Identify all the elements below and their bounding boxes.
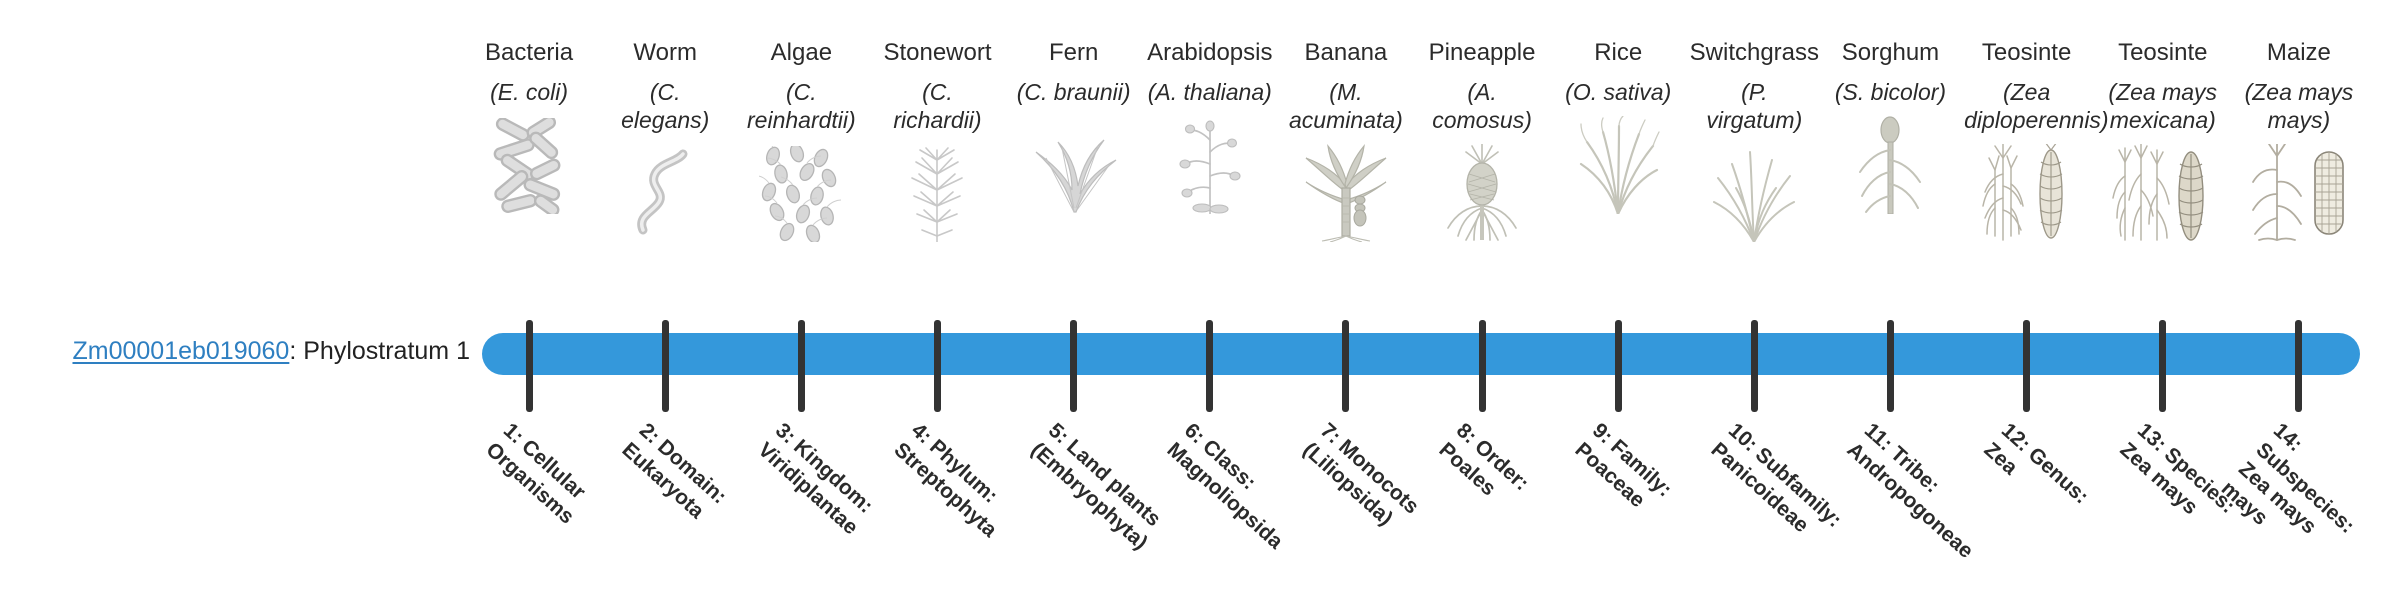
species-column-teosinte-mexicana: Teosinte (Zea mays mexicana) [2095, 38, 2231, 308]
species-scientific-name: (Zea diploperennis) [1964, 78, 2089, 134]
rank-cell: 8: Order: Poales [1414, 414, 1550, 580]
species-scientific-name: (M. acuminata) [1283, 78, 1408, 134]
bacteria-illustration-icon [490, 114, 568, 214]
species-column-arabidopsis: Arabidopsis (A. thaliana) [1142, 38, 1278, 308]
rank-cell: 10: Subfamily: Panicoideae [1686, 414, 1822, 580]
species-column-banana: Banana (M. acuminata) [1278, 38, 1414, 308]
species-common-name: Switchgrass [1690, 38, 1819, 68]
species-common-name: Algae [771, 38, 832, 68]
rank-cell: 7: Monocots (Liliopsida) [1278, 414, 1414, 580]
maize-illustration-icon [2247, 142, 2351, 242]
rank-cell: 14: Subspecies: Zea mays mays [2231, 414, 2367, 580]
algae-illustration-icon [759, 142, 843, 242]
rank-cell: 9: Family: Poaceae [1550, 414, 1686, 580]
phylostratum-figure: Zm00001eb019060: Phylostratum 1 Bacteria… [0, 0, 2400, 580]
phylostratum-bar[interactable] [482, 333, 2360, 375]
species-column-worm: Worm (C. elegans) [597, 38, 733, 308]
phylostratum-value: Phylostratum 1 [303, 337, 470, 365]
rank-cell: 2: Domain: Eukaryota [597, 414, 733, 580]
teosinte-mexicana-illustration-icon [2111, 142, 2215, 242]
species-scientific-name: (E. coli) [490, 78, 568, 106]
species-scientific-name: (Zea mays mexicana) [2100, 78, 2225, 134]
banana-illustration-icon [1300, 142, 1392, 242]
gene-id-link[interactable]: Zm00001eb019060 [72, 337, 289, 365]
switchgrass-illustration-icon [1710, 142, 1798, 242]
species-scientific-name: (S. bicolor) [1835, 78, 1946, 106]
taxonomic-rank-label-row: 1: Cellular Organisms 2: Domain: Eukaryo… [461, 414, 2367, 580]
species-column-sorghum: Sorghum (S. bicolor) [1822, 38, 1958, 308]
species-scientific-name: (P. virgatum) [1692, 78, 1817, 134]
stonewort-illustration-icon [902, 142, 972, 242]
species-common-name: Arabidopsis [1147, 38, 1272, 68]
species-common-name: Banana [1305, 38, 1388, 68]
pineapple-illustration-icon [1442, 142, 1522, 242]
species-scientific-name: (O. sativa) [1565, 78, 1671, 106]
species-scientific-name: (C. reinhardtii) [739, 78, 864, 134]
rank-cell: 6: Class: Magnoliopsida [1142, 414, 1278, 580]
species-common-name: Stonewort [883, 38, 991, 68]
species-column-teosinte-diploperennis: Teosinte (Zea diploperennis) [1959, 38, 2095, 308]
species-column-stonewort: Stonewort (C. richardii) [869, 38, 1005, 308]
species-common-name: Maize [2267, 38, 2331, 68]
species-scientific-name: (C. richardii) [875, 78, 1000, 134]
species-scientific-name: (Zea mays mays) [2236, 78, 2361, 134]
rank-label-14: 14: Subspecies: Zea mays mays [2215, 418, 2396, 596]
species-common-name: Bacteria [485, 38, 573, 68]
species-common-name: Teosinte [2118, 38, 2207, 68]
rank-cell: 11: Tribe: Andropogoneae [1822, 414, 1958, 580]
species-column-bacteria: Bacteria (E. coli) [461, 38, 597, 308]
rice-illustration-icon [1575, 114, 1661, 214]
species-scientific-name: (A. thaliana) [1148, 78, 1272, 106]
rank-cell: 4: Phylum: Streptophyta [869, 414, 1005, 580]
species-scientific-name: (A. comosus) [1420, 78, 1545, 134]
species-column-switchgrass: Switchgrass (P. virgatum) [1686, 38, 1822, 308]
gene-phylostratum-label: Zm00001eb019060: Phylostratum 1 [0, 335, 470, 367]
species-scientific-name: (C. braunii) [1017, 78, 1131, 106]
worm-illustration-icon [627, 142, 703, 242]
species-header-row: Bacteria (E. coli) [461, 38, 2367, 308]
rank-cell: 1: Cellular Organisms [461, 414, 597, 580]
species-column-fern: Fern (C. braunii) [1006, 38, 1142, 308]
gene-label-separator: : [289, 337, 303, 365]
teosinte-diploperennis-illustration-icon [1977, 142, 2077, 242]
species-scientific-name: (C. elegans) [603, 78, 728, 134]
rank-cell: 3: Kingdom: Viridiplantae [733, 414, 869, 580]
species-column-algae: Algae (C. reinhardtii) [733, 38, 869, 308]
species-common-name: Sorghum [1842, 38, 1939, 68]
species-common-name: Teosinte [1982, 38, 2071, 68]
arabidopsis-illustration-icon [1172, 114, 1248, 214]
rank-cell: 12: Genus: Zea [1959, 414, 2095, 580]
species-common-name: Rice [1594, 38, 1642, 68]
species-column-rice: Rice (O. sativa) [1550, 38, 1686, 308]
species-common-name: Pineapple [1429, 38, 1536, 68]
rank-cell: 5: Land plants (Embryophyta) [1006, 414, 1142, 580]
fern-illustration-icon [1028, 114, 1120, 214]
species-column-pineapple: Pineapple (A. comosus) [1414, 38, 1550, 308]
species-column-maize: Maize (Zea mays mays) [2231, 38, 2367, 308]
species-common-name: Worm [633, 38, 697, 68]
sorghum-illustration-icon [1852, 114, 1928, 214]
rank-cell: 13: Species: Zea mays [2095, 414, 2231, 580]
species-common-name: Fern [1049, 38, 1098, 68]
